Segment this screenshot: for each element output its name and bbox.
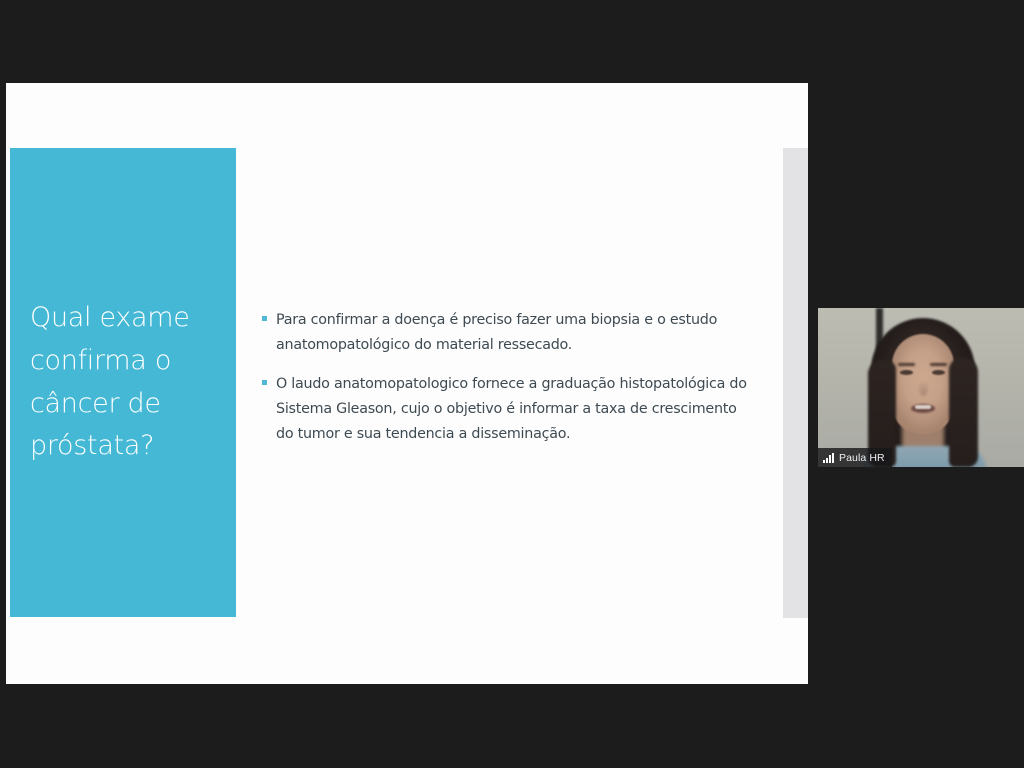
participant-name-badge: Paula HR — [818, 448, 892, 467]
bullet-square-icon — [262, 316, 267, 321]
presentation-slide[interactable]: Qual exame confirma o câncer de próstata… — [6, 83, 808, 684]
bullet-text: O laudo anatomopatologico fornece a grad… — [276, 372, 752, 447]
participant-eye-right — [932, 370, 945, 375]
participant-nose — [919, 380, 928, 396]
participant-eye-left — [900, 370, 913, 375]
participant-eyebrow-right — [930, 363, 947, 366]
participant-name-label: Paula HR — [839, 452, 885, 464]
signal-bars-icon — [823, 453, 834, 463]
bullet-item: Para confirmar a doença é preciso fazer … — [262, 308, 752, 358]
screen-share-stage: Qual exame confirma o câncer de próstata… — [0, 0, 1024, 768]
participant-video-tile[interactable]: Paula HR — [818, 308, 1024, 467]
slide-scrollbar-track[interactable] — [783, 148, 808, 618]
participant-eyebrow-left — [898, 363, 915, 366]
bullet-square-icon — [262, 380, 267, 385]
bullet-item: O laudo anatomopatologico fornece a grad… — [262, 372, 752, 447]
participant-teeth — [915, 405, 931, 409]
participant-hair-strand-right — [949, 358, 978, 467]
slide-body-bullets: Para confirmar a doença é preciso fazer … — [262, 308, 752, 461]
slide-title: Qual exame confirma o câncer de próstata… — [30, 297, 218, 468]
bullet-text: Para confirmar a doença é preciso fazer … — [276, 308, 752, 358]
slide-title-panel: Qual exame confirma o câncer de próstata… — [10, 148, 236, 617]
